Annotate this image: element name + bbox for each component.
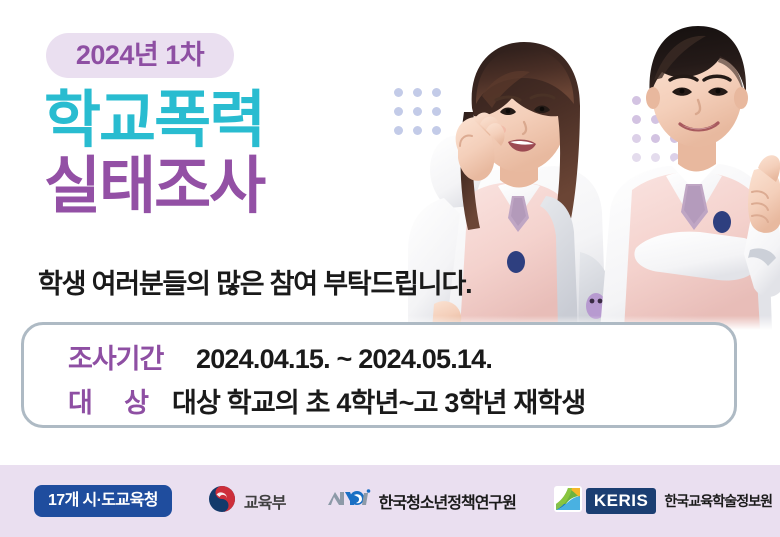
info-value-period: 2024.04.15. ~ 2024.05.14. [196,344,492,375]
keris-wordmark-text: KERIS [594,491,648,510]
taegeuk-icon [208,485,236,518]
poster-root: 2024년 1차 학교폭력 실태조사 학생 여러분들의 많은 참여 부탁드립니다… [0,0,780,537]
logo-sido-education-offices: 17개 시·도교육청 [34,485,172,516]
logo-keris: KERIS 한국교육학술정보원 [554,486,772,517]
title-line-secondary: 실태조사 [44,154,264,220]
keris-wordmark-badge: KERIS [586,488,656,514]
logo-nypi: 한국청소년정책연구원 [326,488,516,515]
title-line-primary: 학교폭력 [44,88,264,154]
logo-keris-label: 한국교육학술정보원 [664,491,772,511]
logo-ministry-of-education-label: 교육부 [244,489,286,513]
footer-logo-bar: 17개 시·도교육청 교육부 [0,465,780,537]
info-row-period: 조사기간 2024.04.15. ~ 2024.05.14. [68,337,734,381]
survey-info-box: 조사기간 2024.04.15. ~ 2024.05.14. 대 상 대상 학교… [21,322,737,428]
logo-nypi-label: 한국청소년정책연구원 [379,489,516,513]
info-label-target-char1: 대 [68,381,92,420]
logo-sido-education-offices-label: 17개 시·도교육청 [48,491,158,510]
info-label-period: 조사기간 [68,337,196,376]
year-round-badge: 2024년 1차 [46,33,234,78]
logo-ministry-of-education: 교육부 [208,485,286,518]
info-value-target: 대상 학교의 초 4학년~고 3학년 재학생 [172,381,585,420]
nypi-mark-icon [326,488,372,515]
info-row-target: 대 상 대상 학교의 초 4학년~고 3학년 재학생 [68,381,734,425]
info-label-target-char2: 상 [124,381,148,420]
page-title: 학교폭력 실태조사 [44,88,264,221]
subtitle-text: 학생 여러분들의 많은 참여 부탁드립니다. [38,262,471,301]
keris-mark-icon [554,486,582,517]
year-round-badge-label: 2024년 1차 [76,42,204,69]
info-label-target: 대 상 [68,381,172,420]
